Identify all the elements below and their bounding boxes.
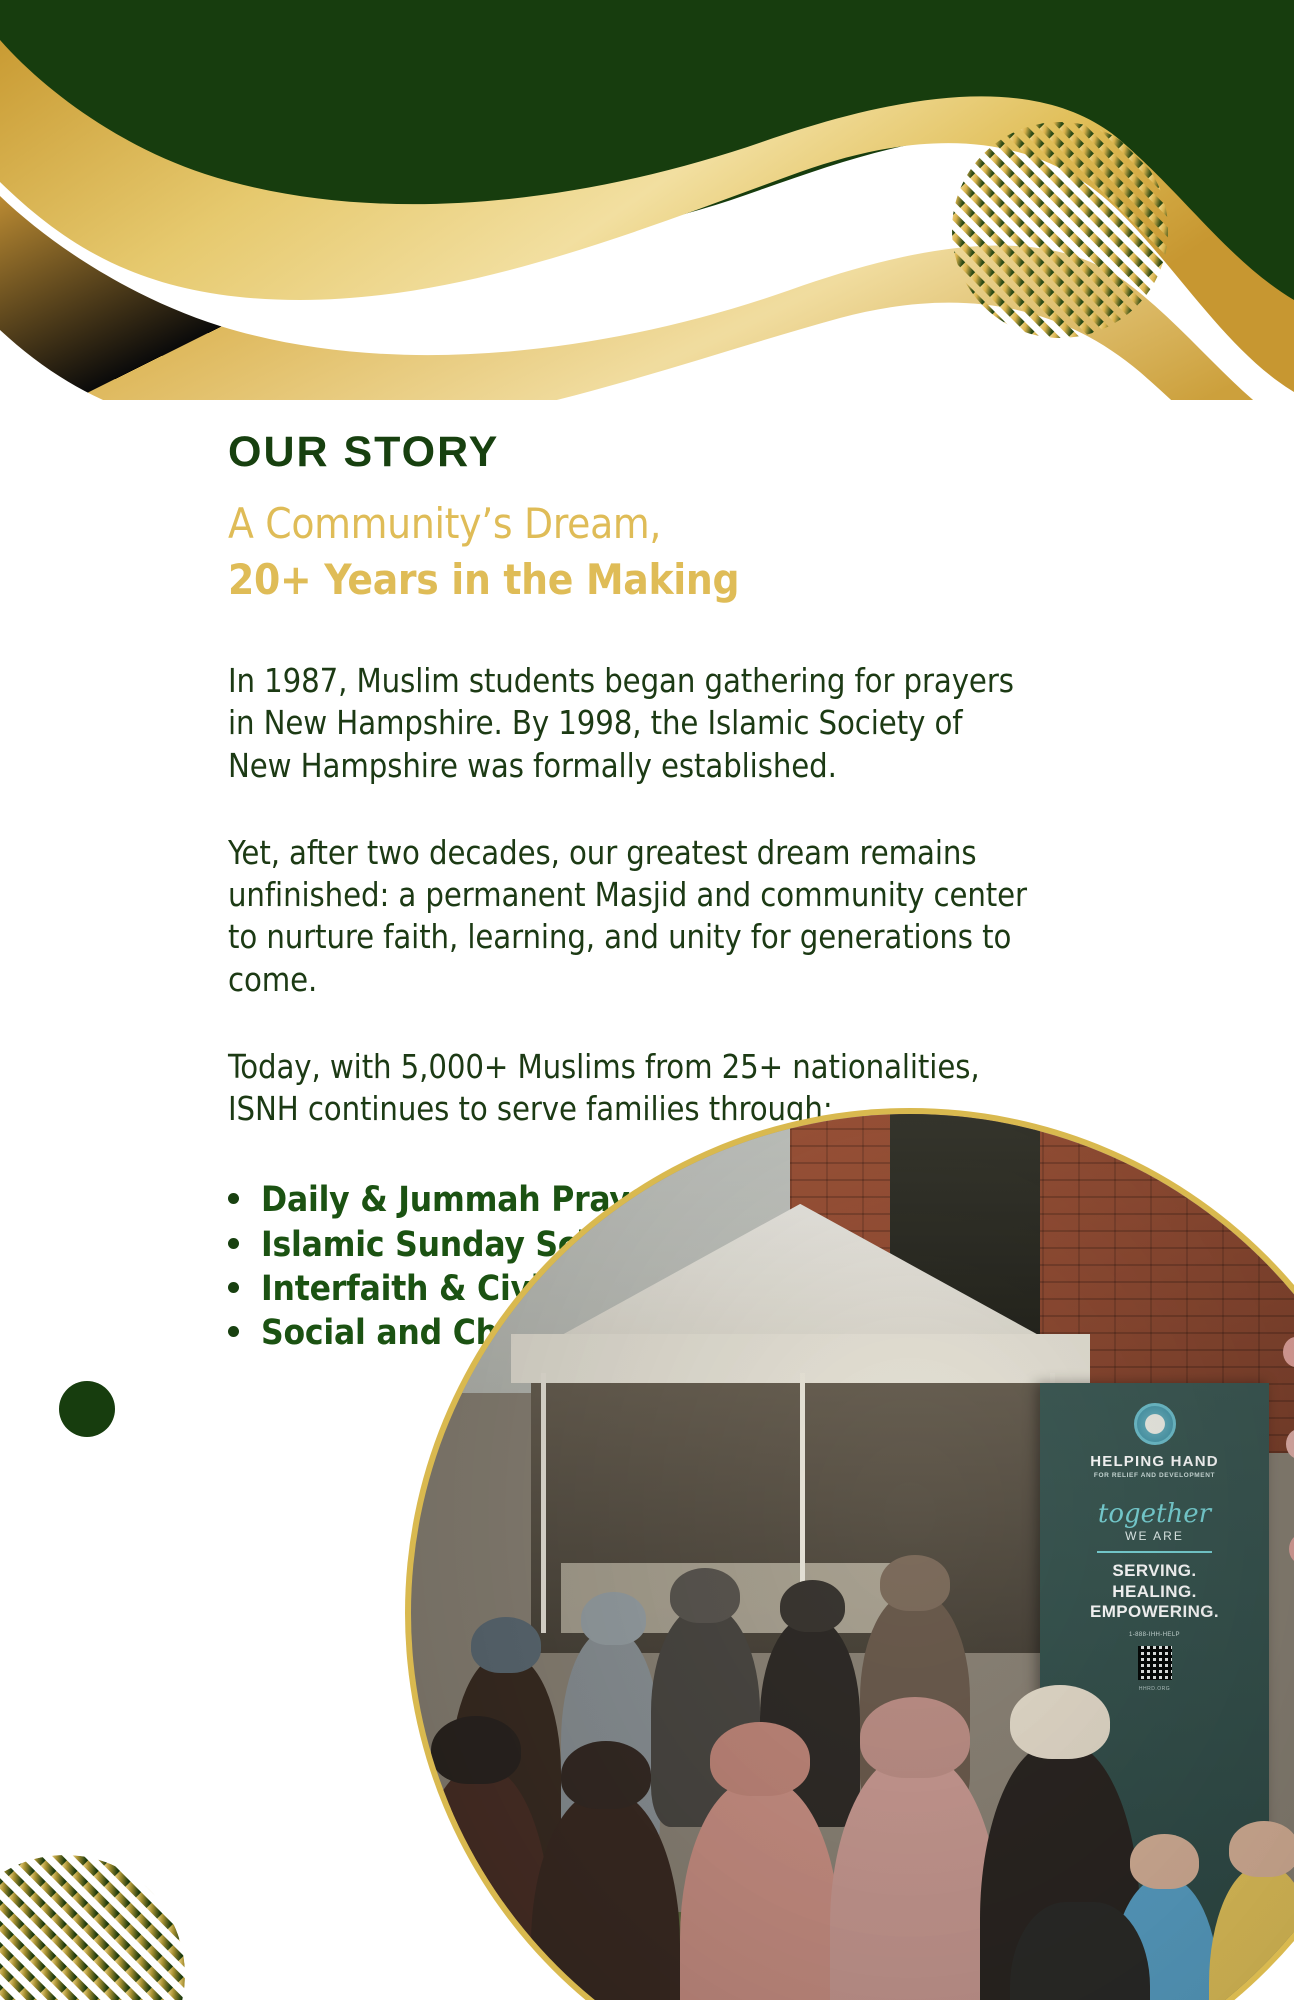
bullet-dot-icon [228, 1238, 239, 1249]
subtitle-line-1: A Community’s Dream, [228, 499, 1208, 549]
top-wave-decoration [0, 0, 1294, 400]
bullet-dot-icon [228, 1193, 239, 1204]
green-backdrop [0, 0, 1294, 307]
gold-wave-lower [0, 196, 1294, 400]
community-photo: HELPING HAND FOR RELIEF AND DEVELOPMENT … [411, 1114, 1294, 2000]
bullet-dot-icon [228, 1282, 239, 1293]
solid-green-dot-decoration [59, 1381, 115, 1437]
paragraph-1: In 1987, Muslim students began gathering… [228, 660, 1028, 787]
gold-wave-upper [0, 40, 1294, 392]
community-photo-frame: HELPING HAND FOR RELIEF AND DEVELOPMENT … [405, 1108, 1294, 2000]
striped-circle-bottom [0, 1855, 185, 2000]
photo-tone-overlay [411, 1114, 1294, 2000]
paragraph-2: Yet, after two decades, our greatest dre… [228, 832, 1028, 1001]
page-title: OUR STORY [228, 430, 1208, 475]
subtitle-line-2: 20+ Years in the Making [228, 555, 1208, 605]
poster-page: OUR STORY A Community’s Dream, 20+ Years… [0, 0, 1294, 2000]
bullet-dot-icon [228, 1326, 239, 1337]
striped-circle-top [952, 122, 1168, 338]
story-body: In 1987, Muslim students began gathering… [228, 660, 1208, 1130]
